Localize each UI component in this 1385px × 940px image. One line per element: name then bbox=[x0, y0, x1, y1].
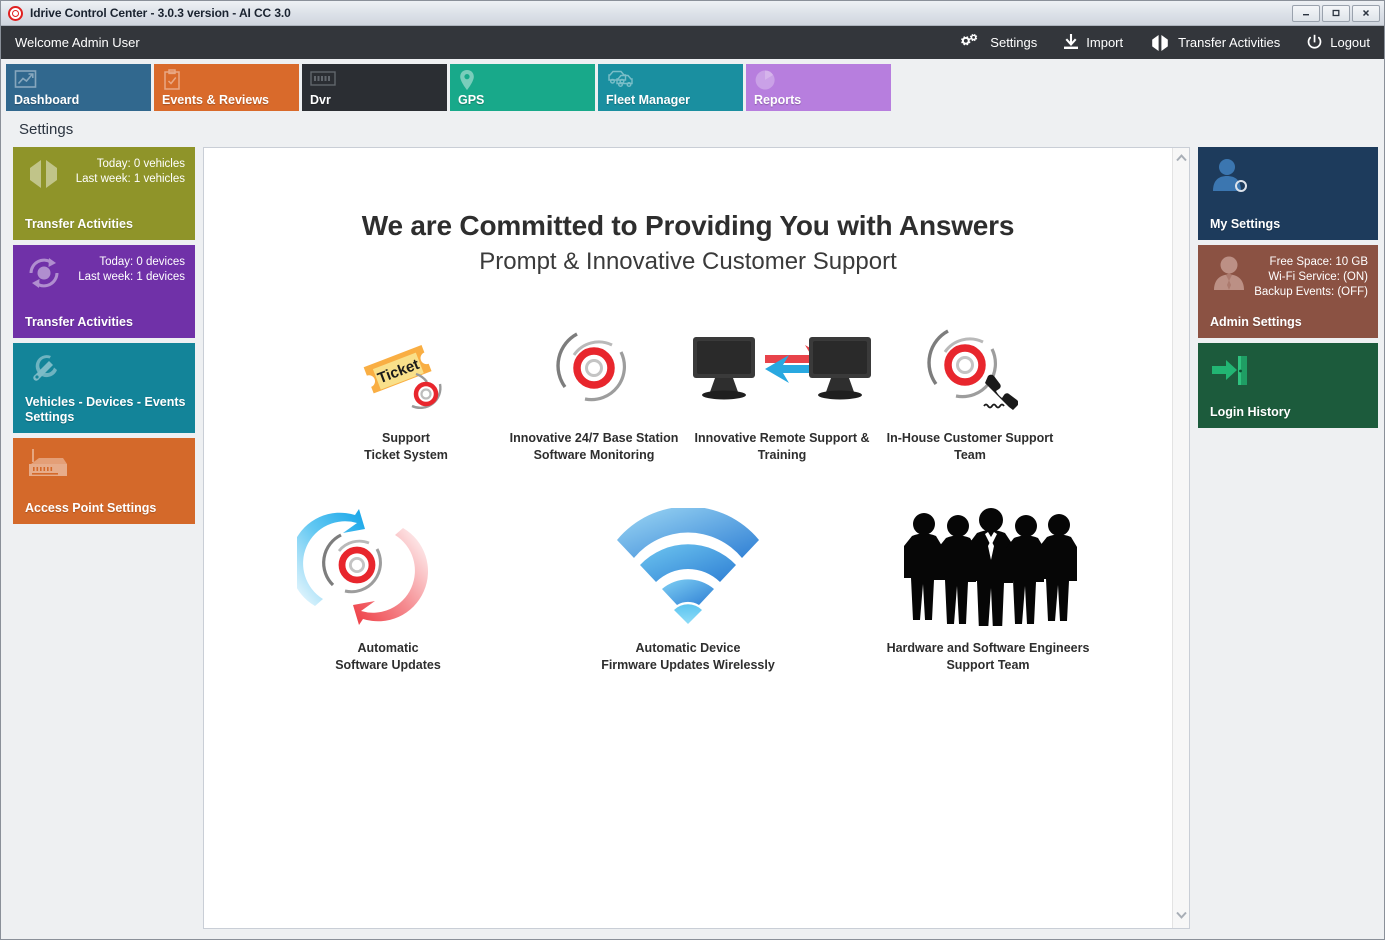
tab-fleet-manager[interactable]: Fleet Manager bbox=[598, 64, 743, 111]
tab-reports[interactable]: Reports bbox=[746, 64, 891, 111]
tab-dvr[interactable]: Dvr bbox=[302, 64, 447, 111]
tile-vehicles-devices-events-settings[interactable]: Vehicles - Devices - Events Settings bbox=[13, 343, 195, 433]
feature-caption: Automatic Device Firmware Updates Wirele… bbox=[601, 640, 775, 674]
toolbar-settings-button[interactable]: Settings bbox=[961, 34, 1037, 52]
hero-headline: We are Committed to Providing You with A… bbox=[204, 210, 1172, 242]
feature-caption-line-2: Ticket System bbox=[364, 448, 448, 462]
tab-dvr-label: Dvr bbox=[310, 93, 331, 107]
download-icon bbox=[1063, 34, 1079, 51]
feature-caption-line-2: Firmware Updates Wirelessly bbox=[601, 658, 775, 672]
window-controls bbox=[1292, 5, 1384, 22]
toolbar-transfer-label: Transfer Activities bbox=[1178, 35, 1280, 50]
feature-row-2: Automatic Software Updates bbox=[204, 506, 1172, 674]
page-title: Settings bbox=[1, 111, 1384, 147]
main-scrollbar[interactable] bbox=[1172, 148, 1189, 928]
feature-caption-line-1: Hardware and Software Engineers bbox=[887, 641, 1090, 655]
tab-dashboard[interactable]: Dashboard bbox=[6, 64, 151, 111]
tile-label: My Settings bbox=[1210, 217, 1370, 232]
tile-transfer-activities-vehicles[interactable]: Today: 0 vehicles Last week: 1 vehicles … bbox=[13, 147, 195, 240]
minimize-button[interactable] bbox=[1292, 5, 1320, 22]
feature-remote-support-training: Innovative Remote Support & Training bbox=[688, 320, 876, 464]
tab-reports-label: Reports bbox=[754, 93, 801, 107]
page-body: Today: 0 vehicles Last week: 1 vehicles … bbox=[1, 147, 1384, 939]
tile-transfer-activities-devices[interactable]: Today: 0 devices Last week: 1 devices Tr… bbox=[13, 245, 195, 338]
tab-fleet-manager-label: Fleet Manager bbox=[606, 93, 690, 107]
feature-caption-line-2: Software Updates bbox=[335, 658, 441, 672]
toolbar-settings-label: Settings bbox=[990, 35, 1037, 50]
feature-row-1: Ticket Support bbox=[204, 320, 1172, 464]
support-ticket-icon: Ticket bbox=[354, 320, 458, 416]
feature-caption-line-1: Automatic Device bbox=[636, 641, 741, 655]
tile-stat-line: Free Space: 10 GB bbox=[1270, 256, 1368, 268]
device-sync-icon bbox=[25, 255, 63, 296]
tile-label: Login History bbox=[1210, 405, 1370, 420]
support-phone-target-icon bbox=[922, 320, 1018, 416]
admin-user-icon bbox=[1210, 255, 1248, 296]
tile-login-history[interactable]: Login History bbox=[1198, 343, 1378, 428]
tile-stat-line: Last week: 1 devices bbox=[78, 271, 185, 283]
feature-caption-line-1: Innovative 24/7 Base Station bbox=[510, 431, 679, 445]
main-nav-tabs: Dashboard Events & Reviews bbox=[1, 59, 1384, 111]
toolbar-import-button[interactable]: Import bbox=[1063, 34, 1123, 51]
dvr-icon bbox=[310, 69, 336, 94]
transfer-arrows-icon bbox=[1149, 34, 1171, 52]
tile-stat-line: Wi-Fi Service: (ON) bbox=[1268, 271, 1368, 283]
tile-label: Admin Settings bbox=[1210, 315, 1370, 330]
feature-caption: In-House Customer Support Team bbox=[887, 430, 1054, 464]
clipboard-check-icon bbox=[162, 69, 182, 96]
toolbar-logout-button[interactable]: Logout bbox=[1306, 34, 1370, 51]
maximize-button[interactable] bbox=[1322, 5, 1350, 22]
feature-caption: Innovative Remote Support & Training bbox=[694, 430, 869, 464]
close-button[interactable] bbox=[1352, 5, 1380, 22]
tab-events-reviews-label: Events & Reviews bbox=[162, 93, 269, 107]
tile-stats: Today: 0 vehicles Last week: 1 vehicles bbox=[76, 157, 185, 187]
tab-events-reviews[interactable]: Events & Reviews bbox=[154, 64, 299, 111]
window-title: Idrive Control Center - 3.0.3 version - … bbox=[30, 6, 291, 20]
tile-label: Vehicles - Devices - Events Settings bbox=[25, 395, 187, 425]
feature-caption-line-1: In-House Customer Support bbox=[887, 431, 1054, 445]
wifi-signal-icon bbox=[613, 506, 763, 626]
main-content-area: We are Committed to Providing You with A… bbox=[203, 147, 1190, 929]
monitoring-target-icon bbox=[551, 320, 637, 416]
right-sidebar: My Settings Free Space: 10 GB Wi-Fi Serv… bbox=[1198, 147, 1378, 929]
feature-caption-line-1: Automatic bbox=[357, 641, 418, 655]
auto-software-update-icon bbox=[297, 506, 479, 626]
feature-caption: Innovative 24/7 Base Station Software Mo… bbox=[510, 430, 679, 464]
toolbar-import-label: Import bbox=[1086, 35, 1123, 50]
engineers-team-icon bbox=[890, 506, 1086, 626]
power-icon bbox=[1306, 34, 1323, 51]
gears-icon bbox=[961, 34, 983, 52]
tile-stat-line: Today: 0 devices bbox=[99, 256, 185, 268]
tab-gps[interactable]: GPS bbox=[450, 64, 595, 111]
remote-support-monitors-icon bbox=[687, 320, 877, 416]
feature-in-house-support-team: In-House Customer Support Team bbox=[876, 320, 1064, 464]
feature-caption-line-2: Team bbox=[954, 448, 986, 462]
tile-label: Transfer Activities bbox=[25, 217, 187, 232]
login-door-icon bbox=[1210, 353, 1248, 392]
hero-subhead: Prompt & Innovative Customer Support bbox=[204, 248, 1172, 276]
feature-caption-line-2: Support Team bbox=[946, 658, 1029, 672]
support-overview-panel: We are Committed to Providing You with A… bbox=[204, 148, 1172, 928]
tile-stat-line: Today: 0 vehicles bbox=[97, 158, 185, 170]
router-icon bbox=[25, 448, 71, 487]
feature-caption-line-2: Software Monitoring bbox=[534, 448, 655, 462]
toolbar-actions: Settings Import Transf bbox=[961, 34, 1370, 52]
chart-trend-icon bbox=[14, 69, 38, 96]
tab-dashboard-label: Dashboard bbox=[14, 93, 79, 107]
feature-automatic-firmware-updates: Automatic Device Firmware Updates Wirele… bbox=[538, 506, 838, 674]
scroll-down-icon[interactable] bbox=[1176, 911, 1187, 922]
tile-my-settings[interactable]: My Settings bbox=[1198, 147, 1378, 240]
user-settings-icon bbox=[1210, 157, 1250, 198]
toolbar-logout-label: Logout bbox=[1330, 35, 1370, 50]
vehicles-icon bbox=[606, 69, 634, 94]
tile-admin-settings[interactable]: Free Space: 10 GB Wi-Fi Service: (ON) Ba… bbox=[1198, 245, 1378, 338]
tile-access-point-settings[interactable]: Access Point Settings bbox=[13, 438, 195, 524]
top-toolbar: Welcome Admin User Settings bbox=[1, 26, 1384, 59]
tile-stats: Today: 0 devices Last week: 1 devices bbox=[78, 255, 185, 285]
tab-gps-label: GPS bbox=[458, 93, 484, 107]
toolbar-transfer-activities-button[interactable]: Transfer Activities bbox=[1149, 34, 1280, 52]
feature-support-ticket-system: Ticket Support bbox=[312, 320, 500, 464]
feature-caption: Automatic Software Updates bbox=[335, 640, 441, 674]
feature-engineers-support-team: Hardware and Software Engineers Support … bbox=[838, 506, 1138, 674]
feature-caption: Hardware and Software Engineers Support … bbox=[887, 640, 1090, 674]
tile-stat-line: Backup Events: (OFF) bbox=[1254, 286, 1368, 298]
feature-caption-line-2: Training bbox=[758, 448, 807, 462]
app-window: Idrive Control Center - 3.0.3 version - … bbox=[0, 0, 1385, 940]
transfer-arrows-icon bbox=[25, 157, 63, 196]
scroll-up-icon[interactable] bbox=[1176, 154, 1187, 165]
tile-label: Access Point Settings bbox=[25, 501, 187, 516]
title-bar: Idrive Control Center - 3.0.3 version - … bbox=[1, 1, 1384, 26]
feature-base-station-monitoring: Innovative 24/7 Base Station Software Mo… bbox=[500, 320, 688, 464]
idrive-logo-icon bbox=[8, 6, 23, 21]
pie-chart-icon bbox=[754, 69, 776, 96]
wrench-icon bbox=[25, 353, 63, 392]
welcome-message: Welcome Admin User bbox=[15, 35, 140, 50]
feature-caption-line-1: Innovative Remote Support & bbox=[694, 431, 869, 445]
hero-section: We are Committed to Providing You with A… bbox=[204, 148, 1172, 276]
tile-stats: Free Space: 10 GB Wi-Fi Service: (ON) Ba… bbox=[1254, 255, 1368, 300]
tile-stat-line: Last week: 1 vehicles bbox=[76, 173, 185, 185]
feature-caption: Support Ticket System bbox=[364, 430, 448, 464]
feature-caption-line-1: Support bbox=[382, 431, 430, 445]
feature-automatic-software-updates: Automatic Software Updates bbox=[238, 506, 538, 674]
tile-label: Transfer Activities bbox=[25, 315, 187, 330]
left-sidebar: Today: 0 vehicles Last week: 1 vehicles … bbox=[13, 147, 195, 929]
